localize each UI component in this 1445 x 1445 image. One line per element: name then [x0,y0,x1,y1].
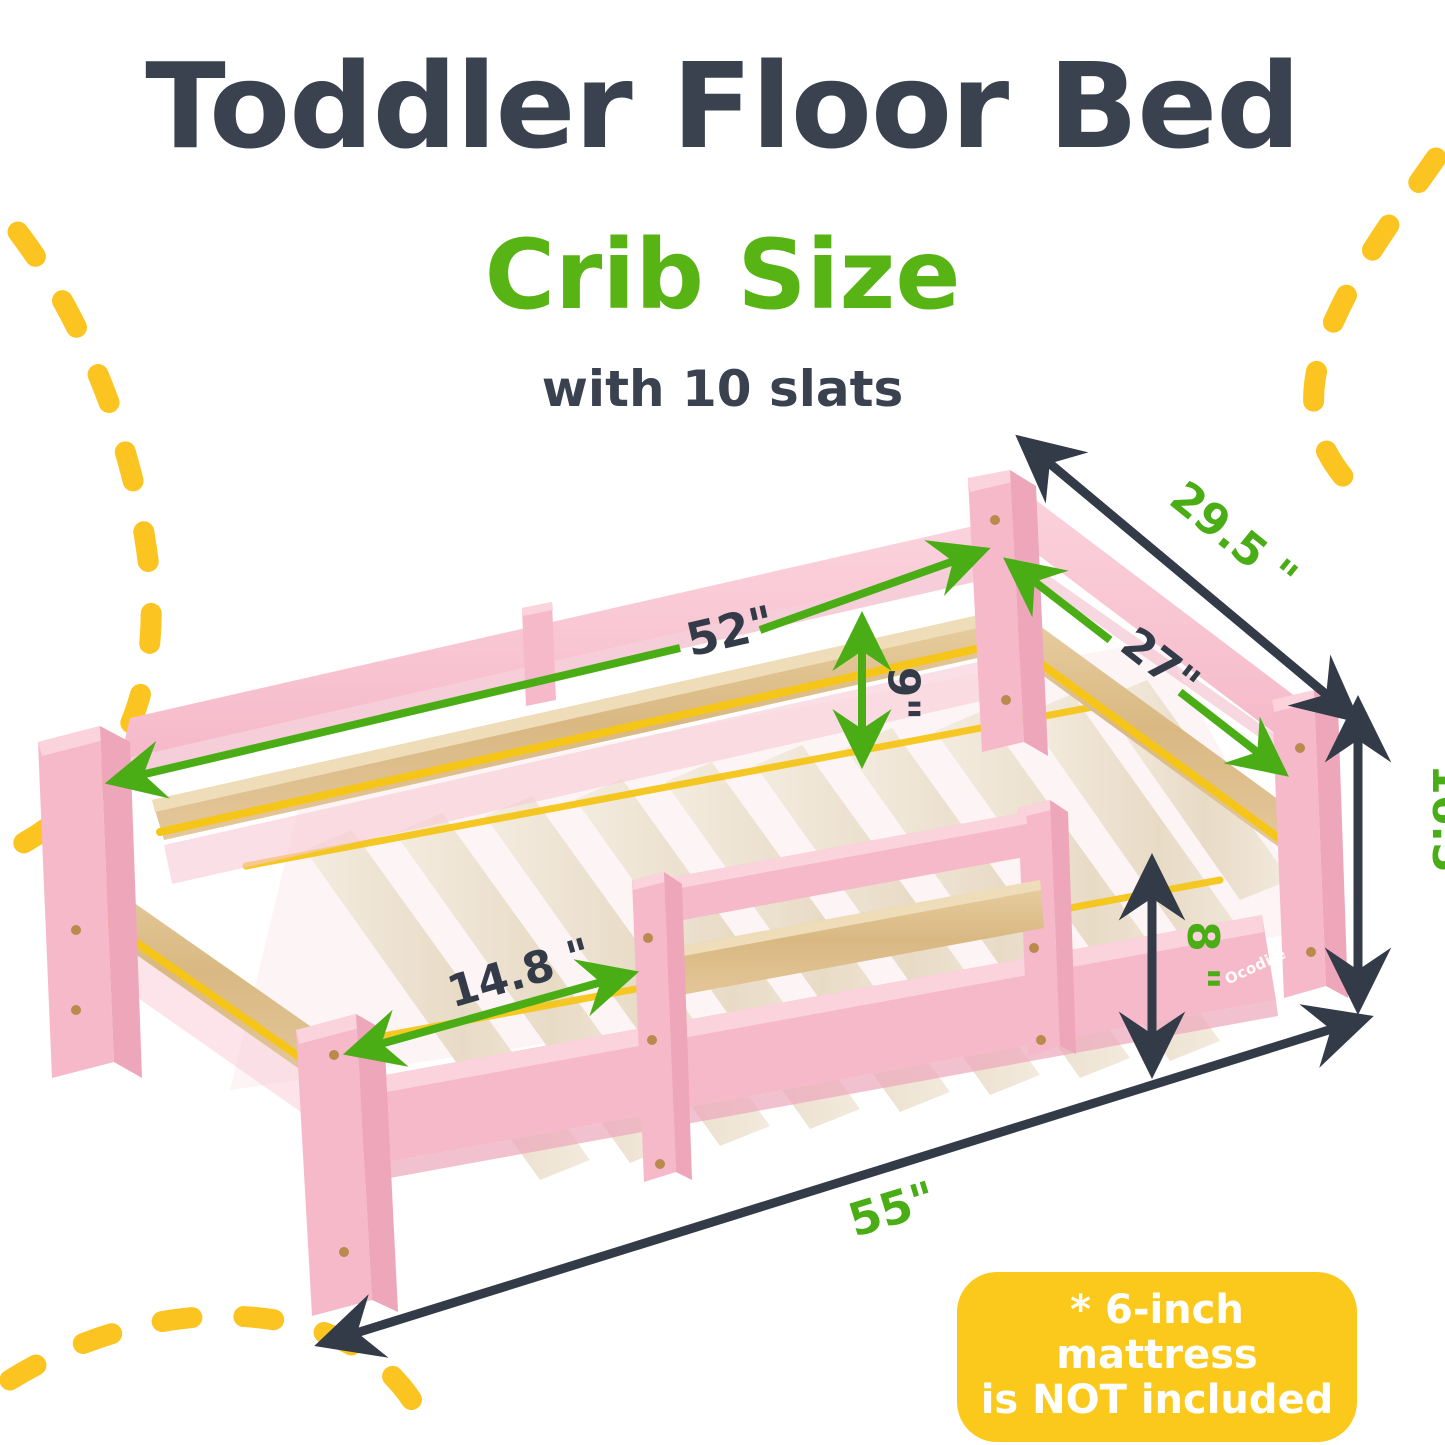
post-back-left [38,726,142,1078]
post-back-middle [522,602,556,706]
bed-illustration [0,0,1445,1445]
badge-line-1: * 6-inch mattress [967,1288,1347,1378]
mattress-disclaimer-badge: * 6-inch mattress is NOT included [957,1272,1357,1442]
infographic-canvas: Toddler Floor Bed Crib Size with 10 slat… [0,0,1445,1445]
badge-line-2: is NOT included [967,1378,1347,1423]
post-front-left [296,1014,398,1316]
